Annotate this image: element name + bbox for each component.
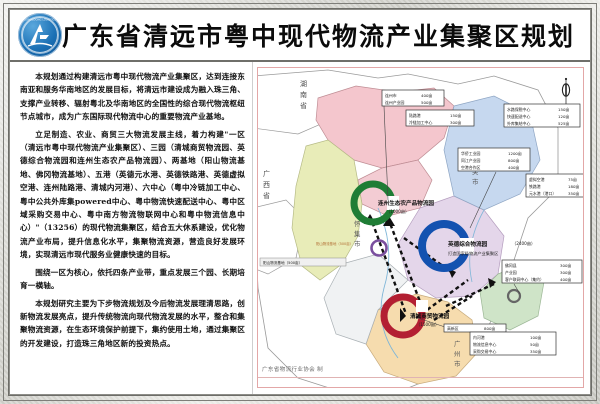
box5-row-label-0: 虚拟空港	[529, 177, 545, 182]
box7-row-label-1: 内河港	[473, 335, 485, 340]
box-row-label-1: 连州产业园	[385, 100, 405, 105]
data-box-yingde-side: 虚拟空港 75亩 铁路港 180亩 元水港（港口） 350亩	[526, 174, 584, 197]
box5-row-value-1: 180亩	[568, 184, 579, 189]
hub-label-lianzhou: 连州生态农产品物流园	[378, 199, 434, 207]
hub-subtitle-yingde: 打造国家级物流产业集聚区	[448, 250, 498, 257]
hub-area-yingde: （2400亩）	[512, 240, 535, 247]
svg-text:西: 西	[263, 181, 270, 189]
box2-row-value-0: 150亩	[450, 113, 461, 118]
box6-row-value-0: 300亩	[560, 263, 571, 268]
box3-row-label-0: 水路保税中心	[507, 107, 530, 112]
map-credit: 广东省物流行业协会 制	[262, 365, 323, 373]
paragraph-3: 围绕一区为核心，依托四条产业带，重点发展三个园、长期培育一横轴。	[20, 266, 245, 293]
svg-text:市: 市	[354, 239, 361, 248]
hub-label-yingde: 英德综合物流园	[448, 240, 488, 248]
poster-frame: GUANGDONG LOGISTICS 广东省清远市粤中现代物流产业集聚区规划 …	[0, 0, 600, 404]
poster-header: GUANGDONG LOGISTICS 广东省清远市粤中现代物流产业集聚区规划	[10, 10, 590, 62]
svg-text:广: 广	[263, 169, 270, 178]
paragraph-4: 本规划研究主要为下步物流规划及今后物流发展理清思路，创新物流发展亮点，提升传统物…	[20, 297, 245, 351]
svg-text:市: 市	[454, 359, 461, 368]
svg-text:广: 广	[454, 339, 461, 348]
box2-row-value-1: 300亩	[450, 120, 461, 125]
svg-text:GUANGDONG LOGISTICS: GUANGDONG LOGISTICS	[24, 18, 56, 22]
svg-text:湖: 湖	[300, 79, 307, 88]
box4-row-value-2: 400亩	[508, 165, 519, 170]
box-row-label-0: 连州市	[385, 93, 397, 98]
svg-text:市: 市	[472, 177, 479, 186]
box-row-value-1: 500亩	[421, 100, 432, 105]
map-panel: 构筑桥头堡 物流惠民生	[257, 67, 584, 388]
box5-row-value-0: 75亩	[568, 177, 577, 182]
paragraph-1: 本规划通过构建清远市粤中现代物流产业集聚区，达到连接东南亚和服务华南地区的发展目…	[20, 70, 245, 124]
hub-area-qingcheng: （1500亩）	[416, 321, 439, 328]
box3-row-value-1: 120亩	[558, 114, 569, 119]
box7-row-value-3: 350亩	[530, 349, 541, 354]
base-label-yangshan: 阳山物流基地（500亩）	[263, 260, 302, 265]
box6-row-label-1: 产业园	[505, 270, 517, 275]
hub-label-qingcheng: 清城商贸物流园	[410, 312, 450, 320]
paragraph-2: 立足制造、农业、商贸三大物流发展主线，着力构建"一区（清远市粤中现代物流产业集聚…	[20, 128, 245, 262]
svg-text:南: 南	[300, 90, 307, 99]
box2-row-label-0: 陆路港	[409, 113, 421, 118]
province-label-hunan: 湖 南 省	[300, 79, 307, 110]
box7-row-label-2: 物流信息中心	[473, 342, 496, 347]
qingyuan-planning-map: 湖 南 省 广 西 省 韶 关 市 怀 集 市	[258, 68, 584, 388]
box2-row-label-1: 冷链加工中心	[409, 120, 432, 125]
box7-row-value-1: 100亩	[530, 335, 541, 340]
box4-row-label-1: 同江产业园	[461, 158, 481, 163]
box3-row-value-2: 525亩	[558, 121, 569, 126]
city-label-guangzhou: 广 州 市	[454, 339, 461, 368]
box5-row-label-2: 元水港（港口）	[529, 191, 556, 196]
box6-row-label-0: 佛冈县	[505, 263, 517, 268]
data-box-yingde-top: 水路保税中心 150亩 快速配送中心 120亩 外库集结中心 525亩	[504, 104, 580, 127]
box6-row-label-2: 客户联网中心（集约）	[505, 277, 544, 282]
box6-row-value-1: 300亩	[560, 270, 571, 275]
page-title: 广东省清远市粤中现代物流产业集聚区规划	[62, 17, 597, 53]
svg-text:省: 省	[263, 191, 270, 200]
box3-row-label-1: 快速配送中心	[507, 114, 530, 119]
box5-row-value-2: 350亩	[568, 191, 579, 196]
poster-body: 本规划通过构建清远市粤中现代物流产业集聚区，达到连接东南亚和服务华南地区的发展目…	[10, 62, 590, 394]
box-row-value-0: 400亩	[421, 93, 432, 98]
box4-row-label-0: 华侨工业园	[461, 151, 481, 156]
poster-inner: GUANGDONG LOGISTICS 广东省清远市粤中现代物流产业集聚区规划 …	[9, 9, 591, 395]
box5-row-label-1: 铁路港	[529, 184, 541, 189]
svg-text:省: 省	[300, 101, 307, 110]
hub-area-lianzhou: （1000亩）	[386, 208, 409, 215]
province-label-guangxi: 广 西 省	[263, 169, 270, 200]
box3-row-value-0: 150亩	[558, 107, 569, 112]
data-box-lianzhou-2: 陆路港 150亩 冷链加工中心 300亩	[406, 110, 474, 126]
box4-row-value-0: 1200亩	[508, 151, 522, 156]
city-label-huaiji: 怀 集 市	[354, 219, 361, 248]
box4-row-label-2: 空港合作区	[461, 165, 481, 170]
svg-text:州: 州	[454, 350, 460, 358]
eagle-emblem-glyph: GUANGDONG LOGISTICS	[18, 13, 62, 57]
box3-row-label-2: 外库集结中心	[507, 121, 530, 126]
eagle-emblem-icon: GUANGDONG LOGISTICS	[18, 13, 62, 57]
base-note-yangshan: 阳山物流基地（500亩）	[316, 241, 353, 246]
box7-row-value-0: 800亩	[484, 326, 495, 331]
text-panel: 本规划通过构建清远市粤中现代物流产业集聚区，达到连接东南亚和服务华南地区的发展目…	[10, 62, 253, 394]
svg-text:集: 集	[354, 229, 361, 238]
map-divider	[258, 377, 583, 378]
box7-row-value-2: 50亩	[530, 342, 539, 347]
box6-row-value-2: 400亩	[560, 277, 571, 282]
box7-row-label-3: 采购交易中心	[473, 349, 496, 354]
box7-row-label-0: 高新区	[447, 326, 459, 331]
box4-row-value-1: 800亩	[508, 158, 519, 163]
